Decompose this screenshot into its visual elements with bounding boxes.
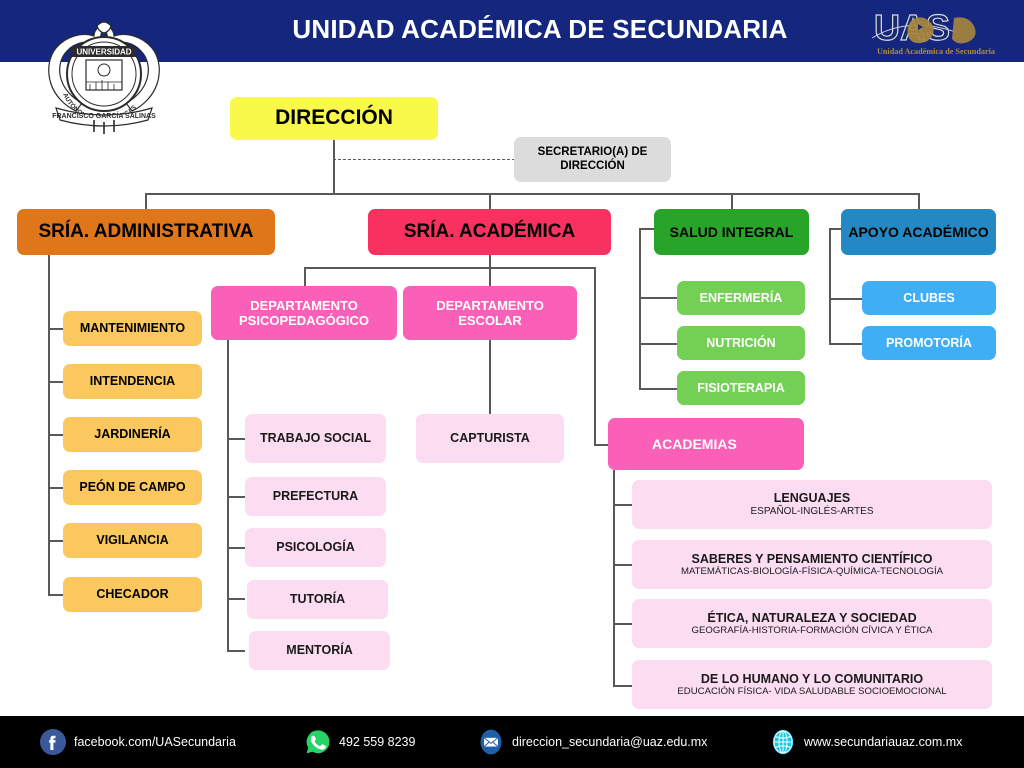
connector-escolar-to-capturista — [489, 340, 491, 415]
node-academia-etica-title: ÉTICA, NATURALEZA Y SOCIEDAD — [707, 611, 916, 626]
node-checador-label: CHECADOR — [96, 587, 168, 602]
organigrama-page: UNIDAD ACADÉMICA DE SECUNDARIA UNIVERSID… — [0, 0, 1024, 768]
connector-stub-jardineria — [48, 434, 63, 436]
node-checador[interactable]: CHECADOR — [63, 577, 202, 612]
node-academia-saberes-title: SABERES Y PENSAMIENTO CIENTÍFICO — [691, 552, 932, 567]
node-capturista[interactable]: CAPTURISTA — [416, 414, 564, 463]
node-academias[interactable]: ACADEMIAS — [608, 418, 804, 470]
connector-stub-tutoria — [227, 598, 245, 600]
connector-stub-nutricion — [639, 343, 677, 345]
node-enfermeria-label: ENFERMERÍA — [700, 291, 783, 306]
node-direccion-label: DIRECCIÓN — [275, 106, 393, 130]
node-departamento-escolar[interactable]: DEPARTAMENTO ESCOLAR — [403, 286, 577, 340]
connector-apoyo-spine — [829, 228, 831, 343]
node-academias-label: ACADEMIAS — [652, 436, 737, 452]
connector-drop-administrativa — [145, 193, 147, 209]
node-academia-etica-subtitle: GEOGRAFÍA-HISTORIA-FORMACIÓN CÍVICA Y ÉT… — [692, 625, 933, 636]
connector-academica-bus — [304, 267, 595, 269]
connector-drop-escolar — [489, 267, 491, 286]
node-trabajo-social[interactable]: TRABAJO SOCIAL — [245, 414, 386, 463]
connector-stub-mentoria — [227, 650, 245, 652]
footer-email-text: direccion_secundaria@uaz.edu.mx — [512, 735, 707, 749]
footer-whatsapp[interactable]: 492 559 8239 — [305, 728, 415, 756]
node-departamento-psicopedagogico-label: DEPARTAMENTO PSICOPEDAGÓGICO — [217, 298, 391, 328]
node-clubes[interactable]: CLUBES — [862, 281, 996, 315]
node-fisioterapia-label: FISIOTERAPIA — [697, 381, 785, 396]
node-psicologia-label: PSICOLOGÍA — [276, 540, 354, 555]
connector-stub-peon — [48, 487, 63, 489]
uaz-seal-logo: UNIVERSIDAD AUTÓNOMA DE ZACATECAS FRANCI… — [40, 12, 168, 140]
node-apoyo-academico-label: APOYO ACADÉMICO — [848, 224, 988, 240]
node-trabajo-social-label: TRABAJO SOCIAL — [260, 431, 371, 446]
node-academia-lenguajes[interactable]: LENGUAJES ESPAÑOL-INGLÉS-ARTES — [632, 480, 992, 529]
seal-ring-top-text: UNIVERSIDAD — [76, 48, 131, 57]
footer-whatsapp-text: 492 559 8239 — [339, 735, 415, 749]
node-vigilancia-label: VIGILANCIA — [96, 533, 168, 548]
node-mantenimiento-label: MANTENIMIENTO — [80, 321, 185, 336]
connector-drop-psicopedagogico — [304, 267, 306, 286]
uas-brand-logo: UAS Unidad Académica de Secundaria — [866, 4, 1006, 60]
connector-stub-humano — [613, 685, 632, 687]
node-academia-lenguajes-title: LENGUAJES — [774, 491, 850, 506]
node-clubes-label: CLUBES — [903, 291, 954, 306]
node-intendencia-label: INTENDENCIA — [90, 374, 175, 389]
node-jardineria[interactable]: JARDINERÍA — [63, 417, 202, 452]
node-peon-de-campo[interactable]: PEÓN DE CAMPO — [63, 470, 202, 505]
connector-drop-apoyo — [918, 193, 920, 209]
node-tutoria-label: TUTORÍA — [290, 592, 345, 607]
connector-academias-vertical — [594, 267, 596, 445]
node-secretario-direccion[interactable]: SECRETARIO(A) DE DIRECCIÓN — [514, 137, 671, 182]
node-mentoria[interactable]: MENTORÍA — [249, 631, 390, 670]
node-secretario-direccion-label: SECRETARIO(A) DE DIRECCIÓN — [520, 146, 665, 173]
connector-stub-lenguajes — [613, 504, 632, 506]
node-nutricion[interactable]: NUTRICIÓN — [677, 326, 805, 360]
connector-stub-trabajo-social — [227, 438, 245, 440]
connector-main-bus — [145, 193, 919, 195]
connector-root-stem — [333, 140, 335, 194]
footer-facebook-text: facebook.com/UASecundaria — [74, 735, 236, 749]
node-peon-de-campo-label: PEÓN DE CAMPO — [79, 480, 185, 495]
connector-stub-saberes — [613, 564, 632, 566]
connector-stub-etica — [613, 623, 632, 625]
connector-stub-enfermeria — [639, 297, 677, 299]
node-departamento-psicopedagogico[interactable]: DEPARTAMENTO PSICOPEDAGÓGICO — [211, 286, 397, 340]
node-academia-etica[interactable]: ÉTICA, NATURALEZA Y SOCIEDAD GEOGRAFÍA-H… — [632, 599, 992, 648]
node-academia-humano-subtitle: EDUCACIÓN FÍSICA- VIDA SALUDABLE SOCIOEM… — [677, 686, 946, 697]
email-icon — [478, 729, 504, 755]
page-title: UNIDAD ACADÉMICA DE SECUNDARIA — [250, 14, 830, 45]
connector-stub-intendencia — [48, 381, 63, 383]
node-academia-saberes-subtitle: MATEMÁTICAS-BIOLOGÍA-FÍSICA-QUÍMICA-TECN… — [681, 566, 943, 577]
node-apoyo-academico[interactable]: APOYO ACADÉMICO — [841, 209, 996, 255]
node-vigilancia[interactable]: VIGILANCIA — [63, 523, 202, 558]
node-prefectura[interactable]: PREFECTURA — [245, 477, 386, 516]
footer-website-text: www.secundariauaz.com.mx — [804, 735, 962, 749]
footer-email[interactable]: direccion_secundaria@uaz.edu.mx — [478, 728, 707, 756]
globe-icon — [770, 729, 796, 755]
node-sria-academica[interactable]: SRÍA. ACADÉMICA — [368, 209, 611, 255]
node-departamento-escolar-label: DEPARTAMENTO ESCOLAR — [409, 298, 571, 328]
node-salud-integral[interactable]: SALUD INTEGRAL — [654, 209, 809, 255]
connector-salud-spine — [639, 228, 641, 388]
node-nutricion-label: NUTRICIÓN — [706, 336, 775, 351]
connector-staff-dashed — [333, 159, 515, 160]
node-academia-saberes[interactable]: SABERES Y PENSAMIENTO CIENTÍFICO MATEMÁT… — [632, 540, 992, 589]
connector-academias-spine — [613, 470, 615, 686]
whatsapp-icon — [305, 729, 331, 755]
node-promotoria[interactable]: PROMOTORÍA — [862, 326, 996, 360]
connector-stub-checador — [48, 594, 63, 596]
facebook-icon — [40, 729, 66, 755]
node-psicologia[interactable]: PSICOLOGÍA — [245, 528, 386, 567]
node-academia-humano[interactable]: DE LO HUMANO Y LO COMUNITARIO EDUCACIÓN … — [632, 660, 992, 709]
uas-caption-text: Unidad Académica de Secundaria — [877, 47, 995, 56]
node-mantenimiento[interactable]: MANTENIMIENTO — [63, 311, 202, 346]
node-sria-academica-label: SRÍA. ACADÉMICA — [404, 221, 575, 243]
connector-salud-entry — [639, 228, 655, 230]
node-academia-lenguajes-subtitle: ESPAÑOL-INGLÉS-ARTES — [751, 506, 874, 518]
connector-drop-academica — [489, 193, 491, 209]
node-tutoria[interactable]: TUTORÍA — [247, 580, 388, 619]
connector-stub-mantenimiento — [48, 328, 63, 330]
node-jardineria-label: JARDINERÍA — [94, 427, 170, 442]
node-academia-humano-title: DE LO HUMANO Y LO COMUNITARIO — [701, 672, 923, 687]
node-fisioterapia[interactable]: FISIOTERAPIA — [677, 371, 805, 405]
node-direccion[interactable]: DIRECCIÓN — [230, 97, 438, 140]
node-sria-administrativa[interactable]: SRÍA. ADMINISTRATIVA — [17, 209, 275, 255]
connector-drop-salud — [731, 193, 733, 209]
connector-administrativa-spine — [48, 255, 50, 595]
node-mentoria-label: MENTORÍA — [286, 643, 352, 658]
node-intendencia[interactable]: INTENDENCIA — [63, 364, 202, 399]
node-enfermeria[interactable]: ENFERMERÍA — [677, 281, 805, 315]
node-prefectura-label: PREFECTURA — [273, 489, 358, 504]
connector-stub-fisioterapia — [639, 388, 677, 390]
node-promotoria-label: PROMOTORÍA — [886, 336, 972, 351]
seal-banner-text: FRANCISCO GARCÍA SALINAS — [52, 111, 156, 120]
footer-facebook[interactable]: facebook.com/UASecundaria — [40, 728, 236, 756]
node-sria-administrativa-label: SRÍA. ADMINISTRATIVA — [39, 221, 254, 243]
connector-stub-psicologia — [227, 547, 245, 549]
node-capturista-label: CAPTURISTA — [450, 431, 530, 446]
footer-website[interactable]: www.secundariauaz.com.mx — [770, 728, 962, 756]
connector-stub-prefectura — [227, 496, 245, 498]
page-footer: facebook.com/UASecundaria 492 559 8239 d… — [0, 716, 1024, 768]
connector-stub-clubes — [829, 298, 862, 300]
connector-stub-vigilancia — [48, 540, 63, 542]
connector-stub-promotoria — [829, 343, 862, 345]
node-salud-integral-label: SALUD INTEGRAL — [670, 224, 794, 240]
